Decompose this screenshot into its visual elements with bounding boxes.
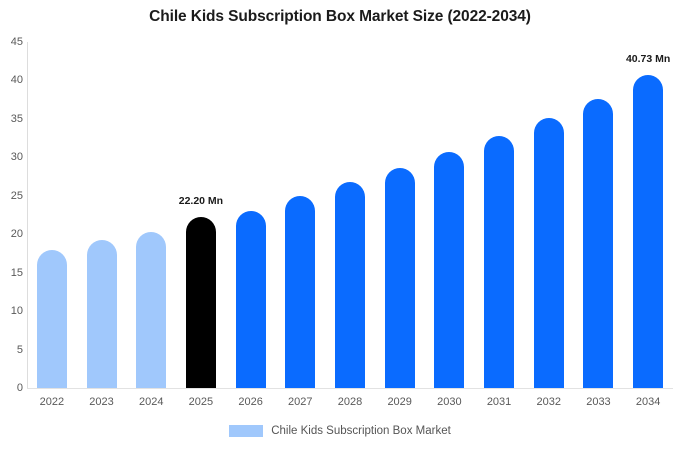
y-axis-tick-0: 0 [1, 382, 23, 394]
y-axis-tick-25: 25 [1, 190, 23, 202]
x-axis-tick-2022: 2022 [29, 396, 75, 408]
bar-2022[interactable] [37, 250, 67, 388]
y-axis-tick-30: 30 [1, 151, 23, 163]
bar-value-label-2034: 40.73 Mn [626, 53, 670, 65]
bar-group-2028[interactable] [331, 42, 369, 388]
bar-group-2022[interactable] [33, 42, 71, 388]
x-axis-tick-2028: 2028 [327, 396, 373, 408]
bar-2030[interactable] [434, 152, 464, 388]
y-axis-tick-20: 20 [1, 228, 23, 240]
bar-2032[interactable] [534, 118, 564, 388]
bar-2034[interactable] [633, 75, 663, 388]
x-axis-tick-2033: 2033 [575, 396, 621, 408]
chart-container: Chile Kids Subscription Box Market Size … [0, 0, 680, 450]
y-axis-tick-15: 15 [1, 267, 23, 279]
x-axis-tick-2026: 2026 [228, 396, 274, 408]
x-axis-tick-2030: 2030 [426, 396, 472, 408]
x-axis-tick-2027: 2027 [277, 396, 323, 408]
y-axis-tick-10: 10 [1, 305, 23, 317]
x-axis-tick-2024: 2024 [128, 396, 174, 408]
bar-group-2027[interactable] [281, 42, 319, 388]
bar-group-2031[interactable] [480, 42, 518, 388]
chart-title: Chile Kids Subscription Box Market Size … [0, 8, 680, 26]
legend-swatch-icon [229, 425, 263, 437]
bar-group-2032[interactable] [530, 42, 568, 388]
bar-2026[interactable] [236, 211, 266, 388]
y-axis-tick-45: 45 [1, 36, 23, 48]
bar-2028[interactable] [335, 182, 365, 388]
y-axis-tick-40: 40 [1, 74, 23, 86]
chart-legend: Chile Kids Subscription Box Market [0, 425, 680, 437]
x-axis-tick-2023: 2023 [79, 396, 125, 408]
x-axis-tick-2025: 2025 [178, 396, 224, 408]
bar-value-label-2025: 22.20 Mn [179, 195, 223, 207]
bar-group-2023[interactable] [83, 42, 121, 388]
bar-2025[interactable] [186, 217, 216, 388]
y-axis-tick-5: 5 [1, 344, 23, 356]
bar-group-2024[interactable] [132, 42, 170, 388]
bar-2024[interactable] [136, 232, 166, 388]
x-axis-tick-2034: 2034 [625, 396, 671, 408]
bar-group-2025[interactable]: 22.20 Mn [182, 42, 220, 388]
x-axis-tick-2032: 2032 [526, 396, 572, 408]
legend-label: Chile Kids Subscription Box Market [271, 425, 451, 437]
x-axis-tick-2029: 2029 [377, 396, 423, 408]
y-axis-tick-35: 35 [1, 113, 23, 125]
bar-group-2033[interactable] [579, 42, 617, 388]
x-axis-tick-2031: 2031 [476, 396, 522, 408]
bar-2027[interactable] [285, 196, 315, 388]
y-axis-tick-labels: 051015202530354045 [0, 0, 23, 450]
x-axis-line [27, 388, 673, 389]
bar-group-2034[interactable]: 40.73 Mn [629, 42, 667, 388]
bar-2031[interactable] [484, 136, 514, 388]
bar-group-2029[interactable] [381, 42, 419, 388]
bar-group-2026[interactable] [232, 42, 270, 388]
plot-area: 22.20 Mn40.73 Mn [27, 42, 673, 388]
bar-2023[interactable] [87, 240, 117, 388]
bar-2029[interactable] [385, 168, 415, 388]
bar-2033[interactable] [583, 99, 613, 388]
bar-group-2030[interactable] [430, 42, 468, 388]
